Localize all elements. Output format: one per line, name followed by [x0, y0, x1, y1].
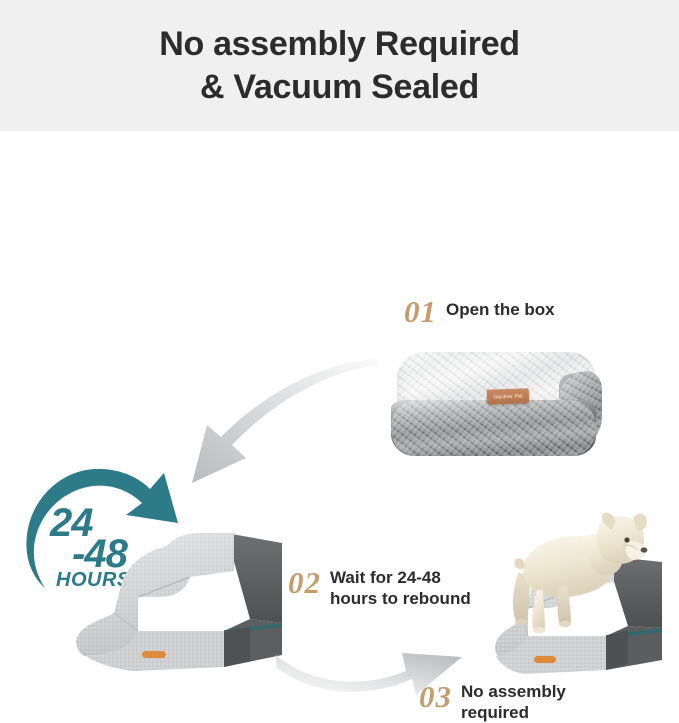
- header-band: No assembly Required & Vacuum Sealed: [0, 0, 679, 131]
- headline-line-1: No assembly Required: [159, 23, 520, 66]
- step-02-caption: Wait for 24-48 hours to rebound: [330, 567, 471, 609]
- step-02-number: 02: [288, 567, 321, 598]
- arrow-box-to-stairs-icon: [176, 359, 380, 491]
- step-01-caption: Open the box: [446, 299, 555, 321]
- package-front-face: [391, 400, 596, 456]
- package-brand-label: Gardner Pet: [487, 388, 529, 404]
- step-03-block: 03 No assembly required: [419, 680, 566, 722]
- stairs-left-brand-tag: [142, 651, 166, 658]
- step-01-block: 01 Open the box: [404, 294, 555, 325]
- step-02-block: 02 Wait for 24-48 hours to rebound: [288, 565, 471, 607]
- step-03-caption: No assembly required: [461, 681, 566, 723]
- package-brand-label-text: Gardner Pet: [493, 393, 523, 400]
- french-bulldog: [497, 512, 649, 640]
- step-03-number: 03: [419, 681, 452, 712]
- infographic-canvas: 01 Open the box Gardner Pet: [0, 131, 679, 599]
- headline-line-2: & Vacuum Sealed: [200, 66, 479, 109]
- vacuum-sealed-package: Gardner Pet: [391, 352, 602, 456]
- pet-stairs-left: [74, 527, 290, 673]
- stairs-right-brand-tag: [534, 656, 556, 663]
- step-01-number: 01: [404, 296, 437, 327]
- package-wrinkle-texture-front: [391, 400, 596, 456]
